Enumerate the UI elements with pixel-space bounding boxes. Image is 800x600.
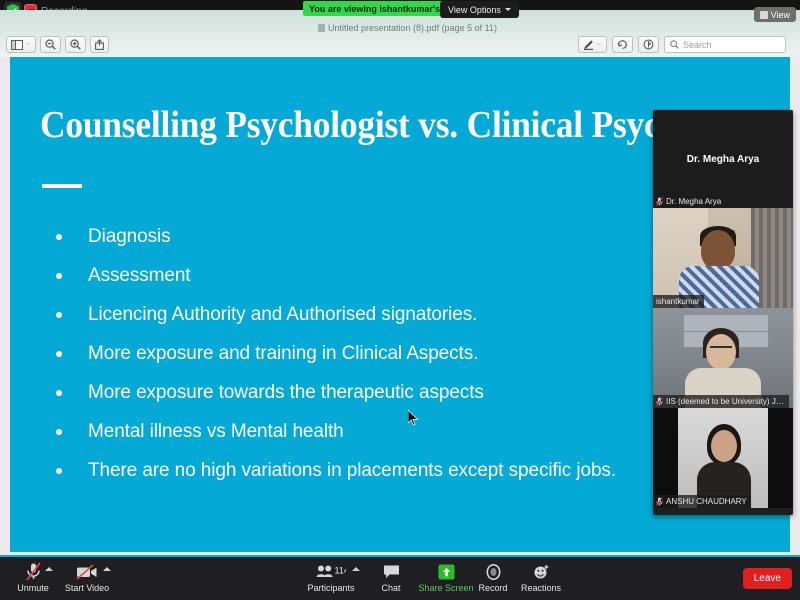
reactions-label: Reactions bbox=[521, 583, 561, 593]
document-title: Untitled presentation (8).pdf (page 5 of… bbox=[328, 23, 497, 33]
rotate-icon bbox=[617, 39, 628, 50]
participants-button[interactable]: 114 Participants bbox=[302, 561, 360, 593]
video-feed-image bbox=[653, 408, 793, 508]
pdf-toolbar-right: Search bbox=[578, 36, 786, 53]
mic-muted-icon bbox=[26, 561, 41, 582]
document-title-bar: Untitled presentation (8).pdf (page 5 of… bbox=[318, 23, 497, 33]
search-input[interactable]: Search bbox=[664, 36, 786, 53]
mouse-cursor-icon bbox=[408, 410, 419, 426]
video-tile-anshu-chaudhary[interactable]: ANSHU CHAUDHARY bbox=[653, 408, 793, 508]
leave-button[interactable]: Leave bbox=[743, 568, 792, 589]
record-label: Record bbox=[478, 583, 507, 593]
bullet-dot-icon bbox=[56, 351, 62, 357]
participants-label: Participants bbox=[307, 583, 354, 593]
chevron-down-icon bbox=[596, 43, 602, 46]
tile-name-label: Dr. Megha Arya bbox=[653, 195, 725, 208]
bullet-dot-icon bbox=[56, 468, 62, 474]
tile-label-text: IIS (deemed to be University) Jai... bbox=[666, 397, 785, 406]
reactions-button[interactable]: Reactions bbox=[512, 561, 570, 593]
view-button[interactable]: View bbox=[754, 7, 796, 22]
list-item: Assessment bbox=[48, 264, 668, 288]
bullet-dot-icon bbox=[56, 273, 62, 279]
start-video-label: Start Video bbox=[65, 583, 109, 593]
pdf-viewer-chrome: Untitled presentation (8).pdf (page 5 of… bbox=[0, 10, 800, 57]
list-item: More exposure towards the therapeutic as… bbox=[48, 381, 668, 405]
pdf-toolbar-left bbox=[6, 36, 109, 53]
unmute-button[interactable]: Unmute bbox=[4, 561, 62, 593]
chevron-down-icon bbox=[505, 8, 511, 11]
bullet-text: More exposure and training in Clinical A… bbox=[88, 342, 478, 366]
highlight-icon bbox=[643, 39, 654, 50]
bullet-text: Licencing Authority and Authorised signa… bbox=[88, 303, 477, 327]
video-feed-image bbox=[653, 208, 793, 308]
bullet-dot-icon bbox=[56, 390, 62, 396]
video-tile-iis-university[interactable]: IIS (deemed to be University) Jai... bbox=[653, 308, 793, 408]
rotate-button[interactable] bbox=[612, 36, 633, 53]
zoom-in-button[interactable] bbox=[65, 36, 86, 53]
meeting-control-bar: Unmute Start Video 114 bbox=[0, 555, 800, 600]
bullet-text: Assessment bbox=[88, 264, 190, 288]
tile-label-text: Dr. Megha Arya bbox=[666, 197, 721, 206]
slide-bullet-list: Diagnosis Assessment Licencing Authority… bbox=[48, 225, 668, 498]
tile-label-text: ANSHU CHAUDHARY bbox=[666, 497, 747, 506]
list-item: There are no high variations in placemen… bbox=[48, 459, 668, 483]
list-item: More exposure and training in Clinical A… bbox=[48, 342, 668, 366]
zoom-out-icon bbox=[45, 39, 56, 50]
tile-center-name: Dr. Megha Arya bbox=[687, 154, 759, 165]
zoom-out-button[interactable] bbox=[40, 36, 61, 53]
slide-title: Counselling Psychologist vs. Clinical Ps… bbox=[40, 103, 696, 147]
chevron-down-icon bbox=[25, 43, 31, 46]
tile-name-label: ANSHU CHAUDHARY bbox=[653, 495, 751, 508]
share-button[interactable] bbox=[90, 36, 109, 53]
search-icon bbox=[670, 40, 679, 49]
svg-text:114: 114 bbox=[335, 566, 347, 576]
search-placeholder: Search bbox=[683, 40, 712, 50]
pen-icon bbox=[583, 39, 594, 50]
bullet-text: Mental illness vs Mental health bbox=[88, 420, 344, 444]
list-item: Licencing Authority and Authorised signa… bbox=[48, 303, 668, 327]
video-filmstrip-panel[interactable]: Dr. Megha Arya Dr. Megha Arya ishantkuma… bbox=[653, 110, 793, 515]
bullet-dot-icon bbox=[56, 429, 62, 435]
view-options-label: View Options bbox=[448, 5, 501, 15]
chat-label: Chat bbox=[381, 583, 400, 593]
list-item: Mental illness vs Mental health bbox=[48, 420, 668, 444]
tile-label-text: ishantkumar bbox=[656, 297, 700, 306]
bullet-dot-icon bbox=[56, 312, 62, 318]
video-feed-image bbox=[653, 308, 793, 408]
markup-pen-button[interactable] bbox=[578, 36, 607, 53]
bullet-text: There are no high variations in placemen… bbox=[88, 459, 616, 483]
sidebar-icon bbox=[11, 40, 23, 50]
grid-view-icon bbox=[760, 11, 768, 19]
participants-chevron-up-icon[interactable] bbox=[352, 567, 360, 571]
zoom-screenshare-window: Recording Untitled presentation (8).pdf … bbox=[0, 0, 800, 600]
record-icon bbox=[486, 561, 501, 582]
reactions-icon bbox=[533, 561, 550, 582]
mic-muted-icon bbox=[656, 497, 663, 506]
participants-icon: 114 bbox=[316, 561, 346, 582]
share-screen-icon bbox=[438, 561, 455, 582]
highlight-button[interactable] bbox=[638, 36, 659, 53]
document-icon bbox=[318, 24, 325, 32]
view-button-label: View bbox=[771, 10, 790, 20]
view-options-button[interactable]: View Options bbox=[440, 1, 519, 18]
mic-muted-icon bbox=[656, 397, 663, 406]
camera-off-icon bbox=[76, 561, 98, 582]
video-tile-ishantkumar[interactable]: ishantkumar bbox=[653, 208, 793, 308]
tile-name-label: ishantkumar bbox=[653, 295, 704, 308]
video-options-chevron-up-icon[interactable] bbox=[103, 567, 111, 571]
zoom-in-icon bbox=[70, 39, 81, 50]
tile-name-label: IIS (deemed to be University) Jai... bbox=[653, 395, 789, 408]
mic-muted-icon bbox=[656, 197, 663, 206]
unmute-label: Unmute bbox=[17, 583, 49, 593]
start-video-button[interactable]: Start Video bbox=[58, 561, 116, 593]
audio-options-chevron-up-icon[interactable] bbox=[45, 567, 53, 571]
video-tile-megha-arya[interactable]: Dr. Megha Arya Dr. Megha Arya bbox=[653, 110, 793, 208]
chat-icon bbox=[383, 561, 400, 582]
title-underline-rule bbox=[42, 184, 82, 188]
bullet-text: Diagnosis bbox=[88, 225, 171, 249]
bullet-text: More exposure towards the therapeutic as… bbox=[88, 381, 484, 405]
sidebar-toggle-button[interactable] bbox=[6, 36, 36, 53]
list-item: Diagnosis bbox=[48, 225, 668, 249]
bullet-dot-icon bbox=[56, 234, 62, 240]
share-icon bbox=[95, 39, 104, 50]
